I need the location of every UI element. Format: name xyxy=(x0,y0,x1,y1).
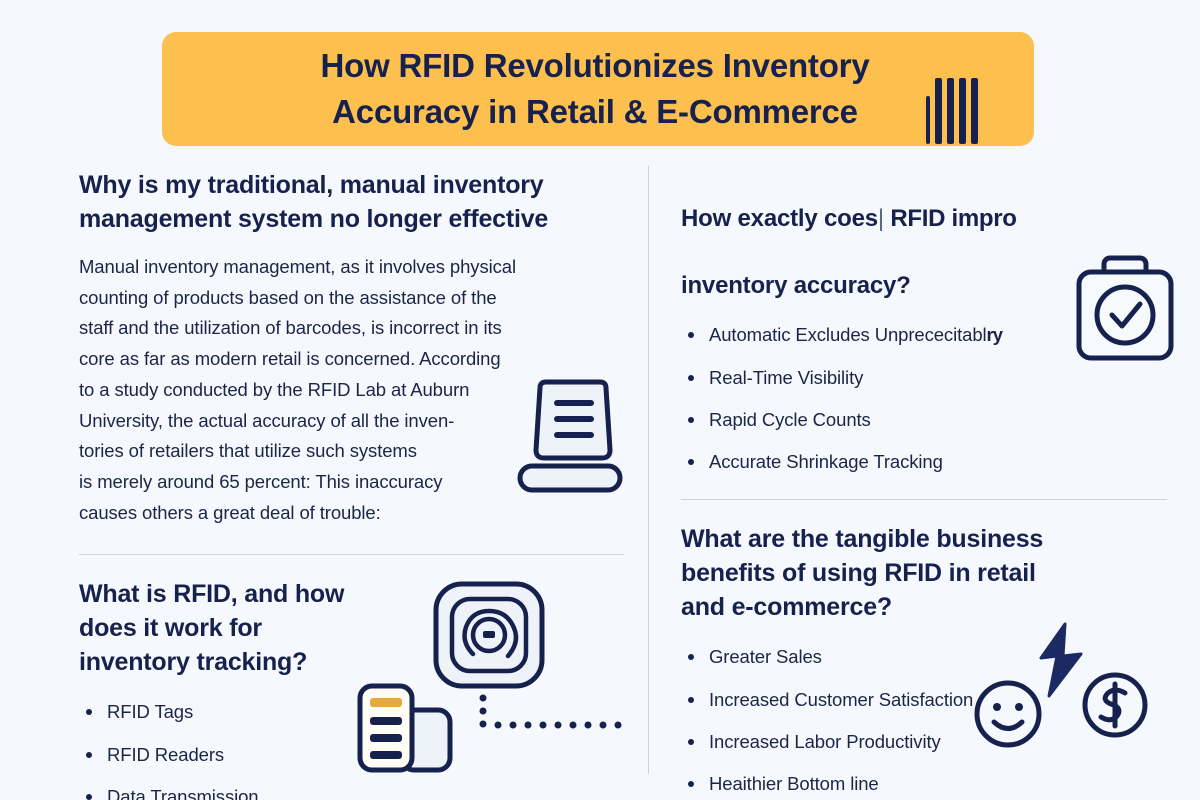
list-item-label: Increased Customer Satisfaction xyxy=(709,689,973,710)
right-section-2-heading: What are the tangible business benefits … xyxy=(681,522,1167,624)
left-section-1-heading: Why is my traditional, manual inventory … xyxy=(79,168,624,236)
dotted-path-icon xyxy=(478,694,628,730)
page-title: How RFID Revolutionizes Inventory Accura… xyxy=(321,43,870,135)
document-chair-icon xyxy=(516,378,628,493)
title-banner: How RFID Revolutionizes Inventory Accura… xyxy=(162,32,1034,146)
smiley-face-icon xyxy=(972,678,1044,750)
list-item: RFID Readers xyxy=(79,742,624,768)
stacked-cards-icon xyxy=(356,682,454,774)
list-item-label: Greater Sales xyxy=(709,646,822,667)
clipboard-check-icon xyxy=(1072,252,1178,364)
list-item-label: Real-Time Visibility xyxy=(709,367,863,388)
rfid-tag-icon xyxy=(432,580,546,690)
right-divider-rule xyxy=(681,499,1167,500)
list-item-label: Automatic Excludes Unprececitabl xyxy=(709,324,987,345)
list-item-label: RFID Tags xyxy=(107,701,193,722)
list-item-label: Heaithier Bottom line xyxy=(709,773,879,794)
dollar-coin-icon xyxy=(1080,670,1150,740)
left-divider-rule xyxy=(79,554,624,555)
list-item: Rapid Cycle Counts xyxy=(681,407,1167,433)
list-item-label: RFID Readers xyxy=(107,744,224,765)
list-item: Data Transmission xyxy=(79,784,624,800)
list-item: Greater Sales xyxy=(681,644,1167,670)
list-item-glitch-tail: ry xyxy=(987,324,1003,345)
list-item: Accurate Shrinkage Tracking xyxy=(681,449,1167,475)
list-item: Real-Time Visibility xyxy=(681,365,1167,391)
list-item-label: Accurate Shrinkage Tracking xyxy=(709,451,943,472)
list-item-label: Rapid Cycle Counts xyxy=(709,409,871,430)
heading-line-2: inventory accuracy? xyxy=(681,272,911,299)
heading-segment-a: How exactly coes xyxy=(681,205,878,232)
list-item-label: Data Transmission xyxy=(107,786,259,800)
infographic-poster: How RFID Revolutionizes Inventory Accura… xyxy=(0,0,1200,800)
list-item: Heaithier Bottom line xyxy=(681,771,1167,797)
heading-segment-b: RFID impro xyxy=(884,205,1017,232)
barcode-icon xyxy=(926,78,978,144)
list-item-label: Increased Labor Productivity xyxy=(709,731,941,752)
column-divider xyxy=(648,166,649,774)
title-banner-inner: How RFID Revolutionizes Inventory Accura… xyxy=(321,43,876,135)
